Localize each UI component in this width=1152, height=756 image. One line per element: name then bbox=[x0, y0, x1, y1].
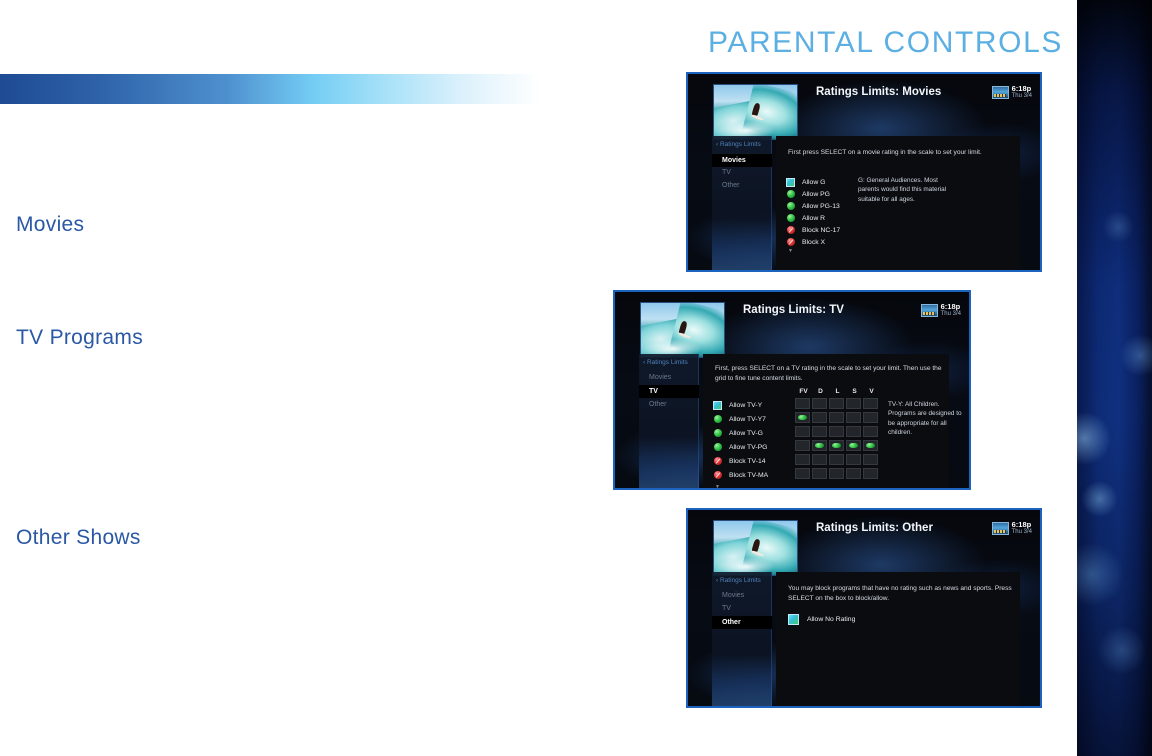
grid-row bbox=[795, 426, 878, 440]
grid-cell[interactable] bbox=[829, 440, 844, 451]
nav-item-movies[interactable]: Movies bbox=[712, 154, 772, 167]
rating-label: Allow TV-Y7 bbox=[729, 416, 766, 423]
rating-row[interactable]: Allow TV-G bbox=[713, 426, 768, 440]
rating-label: Allow G bbox=[802, 179, 825, 186]
grid-cell[interactable] bbox=[863, 412, 878, 423]
grid-cell[interactable] bbox=[812, 454, 827, 465]
page-title: PARENTAL CONTROLS bbox=[0, 26, 1063, 60]
grid-cell[interactable] bbox=[863, 468, 878, 479]
rating-label: Block TV-14 bbox=[729, 458, 766, 465]
rating-label: Allow TV-G bbox=[729, 430, 763, 437]
clock-time: 6:18p bbox=[1012, 521, 1032, 529]
grid-row bbox=[795, 440, 878, 454]
grid-cell[interactable] bbox=[829, 468, 844, 479]
rating-state-icon-allow[interactable] bbox=[714, 443, 722, 451]
grid-cell[interactable] bbox=[863, 426, 878, 437]
rating-row[interactable]: Block TV-14 bbox=[713, 454, 768, 468]
rating-label: Block X bbox=[802, 239, 825, 246]
accent-gradient-bar bbox=[0, 74, 540, 104]
clock-widget: 6:18p Thu 3/4 bbox=[992, 85, 1032, 100]
grid-cell[interactable] bbox=[846, 398, 861, 409]
grid-cell[interactable] bbox=[812, 412, 827, 423]
sidebar-nav: ‹ Ratings Limits Movies TV Other bbox=[639, 354, 699, 488]
screen-header-title: Ratings Limits: Movies bbox=[816, 86, 941, 98]
rating-row[interactable]: Allow TV-Y bbox=[713, 398, 768, 412]
scroll-down-indicator-icon[interactable]: ▼ bbox=[788, 248, 793, 254]
grid-cell[interactable] bbox=[795, 426, 810, 437]
allow-no-rating-row[interactable]: Allow No Rating bbox=[788, 614, 855, 625]
grid-cell[interactable] bbox=[846, 412, 861, 423]
grid-cell[interactable] bbox=[829, 426, 844, 437]
rating-state-icon-allow[interactable] bbox=[714, 415, 722, 423]
rating-description: G: General Audiences. Most parents would… bbox=[858, 176, 948, 204]
nav-item-label: TV bbox=[722, 169, 731, 176]
nav-item-other[interactable]: Other bbox=[649, 401, 667, 408]
nav-item-tv[interactable]: TV bbox=[722, 605, 731, 612]
grid-col-v: V bbox=[863, 388, 880, 395]
nav-item-movies[interactable]: Movies bbox=[649, 374, 671, 381]
rating-row[interactable]: Allow TV-Y7 bbox=[713, 412, 768, 426]
instructions-text: First press SELECT on a movie rating in … bbox=[788, 148, 1010, 158]
screenshot-tv: Ratings Limits: TV 6:18p Thu 3/4 ‹ Ratin… bbox=[613, 290, 971, 490]
nav-item-label: Movies bbox=[649, 374, 671, 381]
grid-cell[interactable] bbox=[795, 454, 810, 465]
rating-state-icon-allow[interactable] bbox=[787, 214, 795, 222]
grid-cell[interactable] bbox=[846, 454, 861, 465]
grid-col-l: L bbox=[829, 388, 846, 395]
rating-label: Block NC-17 bbox=[802, 227, 840, 234]
option-label: Allow No Rating bbox=[807, 616, 855, 623]
grid-cell[interactable] bbox=[795, 398, 810, 409]
tv-guide-icon bbox=[921, 304, 938, 317]
rating-row[interactable]: Block TV-MA bbox=[713, 468, 768, 482]
clock-date: Thu 3/4 bbox=[1012, 529, 1032, 536]
rating-row[interactable]: Allow R bbox=[786, 212, 840, 224]
grid-col-fv: FV bbox=[795, 388, 812, 395]
sidebar-nav: ‹ Ratings Limits Movies TV Other bbox=[712, 572, 772, 706]
rating-label: Allow TV-Y bbox=[729, 402, 762, 409]
rating-state-icon-allow[interactable] bbox=[714, 429, 722, 437]
rating-state-icon-block[interactable] bbox=[714, 457, 722, 465]
nav-item-label: Movies bbox=[722, 157, 746, 164]
tv-guide-icon bbox=[992, 522, 1009, 535]
rating-state-icon-block[interactable] bbox=[787, 226, 795, 234]
section-label-movies: Movies bbox=[16, 213, 84, 237]
clock-time: 6:18p bbox=[941, 303, 961, 311]
rating-state-icon-selected[interactable] bbox=[786, 178, 795, 187]
checkbox-allow-no-rating[interactable] bbox=[788, 614, 799, 625]
clock-time: 6:18p bbox=[1012, 85, 1032, 93]
grid-cell[interactable] bbox=[812, 398, 827, 409]
grid-cell[interactable] bbox=[795, 440, 810, 451]
clock-date: Thu 3/4 bbox=[941, 311, 961, 318]
nav-item-label: Other bbox=[722, 182, 740, 189]
nav-back-ratings-limits[interactable]: ‹ Ratings Limits bbox=[643, 359, 688, 366]
grid-cell[interactable] bbox=[829, 454, 844, 465]
content-descriptor-grid bbox=[795, 398, 878, 482]
grid-cell[interactable] bbox=[863, 398, 878, 409]
video-thumbnail[interactable] bbox=[640, 302, 725, 358]
rating-row[interactable]: Block X bbox=[786, 236, 840, 248]
rating-label: Allow PG bbox=[802, 191, 830, 198]
rating-label: Allow R bbox=[802, 215, 825, 222]
rating-label: Block TV-MA bbox=[729, 472, 768, 479]
decorative-blue-strip bbox=[1077, 0, 1152, 756]
nav-item-tv[interactable]: TV bbox=[722, 169, 731, 176]
video-thumbnail[interactable] bbox=[713, 84, 798, 140]
section-label-other-shows: Other Shows bbox=[16, 526, 141, 550]
nav-back-ratings-limits[interactable]: ‹ Ratings Limits bbox=[716, 577, 761, 584]
clock-date: Thu 3/4 bbox=[1012, 93, 1032, 100]
content-panel: First press SELECT on a movie rating in … bbox=[776, 136, 1020, 270]
rating-label: Allow PG-13 bbox=[802, 203, 840, 210]
content-panel: You may block programs that have no rati… bbox=[776, 572, 1020, 706]
grid-cell[interactable] bbox=[812, 426, 827, 437]
nav-item-label: TV bbox=[649, 388, 658, 395]
sidebar-nav: ‹ Ratings Limits Movies TV Other bbox=[712, 136, 772, 270]
ratings-list: Allow TV-Y Allow TV-Y7 Allow TV-G Allow … bbox=[713, 398, 768, 482]
grid-row bbox=[795, 412, 878, 426]
rating-state-icon-selected[interactable] bbox=[713, 401, 722, 410]
grid-cell[interactable] bbox=[829, 412, 844, 423]
nav-item-other[interactable]: Other bbox=[712, 616, 772, 629]
grid-cell[interactable] bbox=[863, 440, 878, 451]
nav-item-label: Other bbox=[722, 619, 741, 626]
content-panel: First, press SELECT on a TV rating in th… bbox=[703, 354, 949, 488]
grid-cell[interactable] bbox=[812, 468, 827, 479]
grid-cell[interactable] bbox=[846, 440, 861, 451]
grid-column-headers: FV D L S V bbox=[795, 388, 880, 395]
nav-item-label: Other bbox=[649, 401, 667, 408]
grid-cell[interactable] bbox=[846, 426, 861, 437]
rating-state-icon-allow[interactable] bbox=[787, 190, 795, 198]
grid-col-d: D bbox=[812, 388, 829, 395]
grid-cell[interactable] bbox=[829, 398, 844, 409]
rating-row[interactable]: Allow G bbox=[786, 176, 840, 188]
grid-cell[interactable] bbox=[795, 468, 810, 479]
rating-description: TV-Y: All Children. Programs are designe… bbox=[888, 400, 964, 438]
grid-cell[interactable] bbox=[812, 440, 827, 451]
grid-cell[interactable] bbox=[863, 454, 878, 465]
screen-header-title: Ratings Limits: Other bbox=[816, 522, 933, 534]
nav-item-label: TV bbox=[722, 605, 731, 612]
rating-row[interactable]: Block NC-17 bbox=[786, 224, 840, 236]
grid-row bbox=[795, 398, 878, 412]
rating-label: Allow TV-PG bbox=[729, 444, 767, 451]
screenshot-movies: Ratings Limits: Movies 6:18p Thu 3/4 ‹ R… bbox=[686, 72, 1042, 272]
nav-back-ratings-limits[interactable]: ‹ Ratings Limits bbox=[716, 141, 761, 148]
nav-item-other[interactable]: Other bbox=[722, 182, 740, 189]
clock-widget: 6:18p Thu 3/4 bbox=[992, 521, 1032, 536]
rating-state-icon-block[interactable] bbox=[714, 471, 722, 479]
scroll-down-indicator-icon[interactable]: ▼ bbox=[715, 484, 720, 490]
screen-header-title: Ratings Limits: TV bbox=[743, 304, 844, 316]
section-label-tv-programs: TV Programs bbox=[16, 326, 143, 350]
rating-state-icon-block[interactable] bbox=[787, 238, 795, 246]
grid-cell[interactable] bbox=[846, 468, 861, 479]
rating-row[interactable]: Allow PG bbox=[786, 188, 840, 200]
rating-row[interactable]: Allow TV-PG bbox=[713, 440, 768, 454]
rating-row[interactable]: Allow PG-13 bbox=[786, 200, 840, 212]
nav-item-tv[interactable]: TV bbox=[639, 385, 699, 398]
ratings-list: Allow G Allow PG Allow PG-13 Allow R Blo… bbox=[786, 176, 840, 248]
grid-row bbox=[795, 454, 878, 468]
screenshot-other: Ratings Limits: Other 6:18p Thu 3/4 ‹ Ra… bbox=[686, 508, 1042, 708]
nav-item-label: Movies bbox=[722, 592, 744, 599]
instructions-text: You may block programs that have no rati… bbox=[788, 584, 1016, 603]
clock-widget: 6:18p Thu 3/4 bbox=[921, 303, 961, 318]
rating-state-icon-allow[interactable] bbox=[787, 202, 795, 210]
grid-col-s: S bbox=[846, 388, 863, 395]
tv-guide-icon bbox=[992, 86, 1009, 99]
nav-item-movies[interactable]: Movies bbox=[722, 592, 744, 599]
grid-row bbox=[795, 468, 878, 482]
video-thumbnail[interactable] bbox=[713, 520, 798, 576]
grid-cell[interactable] bbox=[795, 412, 810, 423]
instructions-text: First, press SELECT on a TV rating in th… bbox=[715, 364, 943, 383]
